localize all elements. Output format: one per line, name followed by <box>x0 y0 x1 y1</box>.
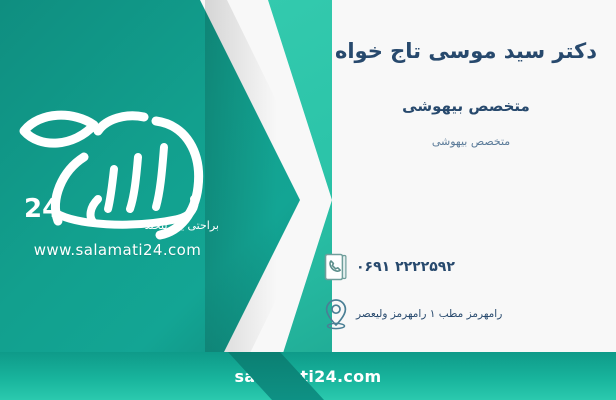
phone-row[interactable]: ۲۲۲۲۵۹۲ ۰۶۹۱ <box>316 247 600 287</box>
map-pin-icon <box>316 294 356 334</box>
clinic-address: رامهرمز مطب ۱ رامهرمز ولیعصر <box>356 308 508 320</box>
footer-bar: salamati24.com <box>0 352 616 400</box>
doctor-name: دکتر سید موسی تاج خواه <box>316 38 616 65</box>
phone-number: ۲۲۲۲۵۹۲ ۰۶۹۱ <box>356 259 461 275</box>
logo-badge-24: 24 <box>24 194 60 224</box>
phonebook-icon <box>316 247 356 287</box>
logo-tagline: براحتی یک لبخند <box>145 219 219 232</box>
address-row[interactable]: رامهرمز مطب ۱ رامهرمز ولیعصر <box>316 294 600 334</box>
salamati24-logo: 24 براحتی یک لبخند www.salamati24.com <box>10 95 225 280</box>
specialty-primary: متخصص بیهوشی <box>316 97 616 115</box>
doctor-business-card: 24 براحتی یک لبخند www.salamati24.com دک… <box>0 0 616 400</box>
logo-url: www.salamati24.com <box>10 241 225 259</box>
card-content: دکتر سید موسی تاج خواه متخصص بیهوشی متخص… <box>300 0 616 400</box>
specialty-secondary: متخصص بیهوشی <box>326 135 616 148</box>
